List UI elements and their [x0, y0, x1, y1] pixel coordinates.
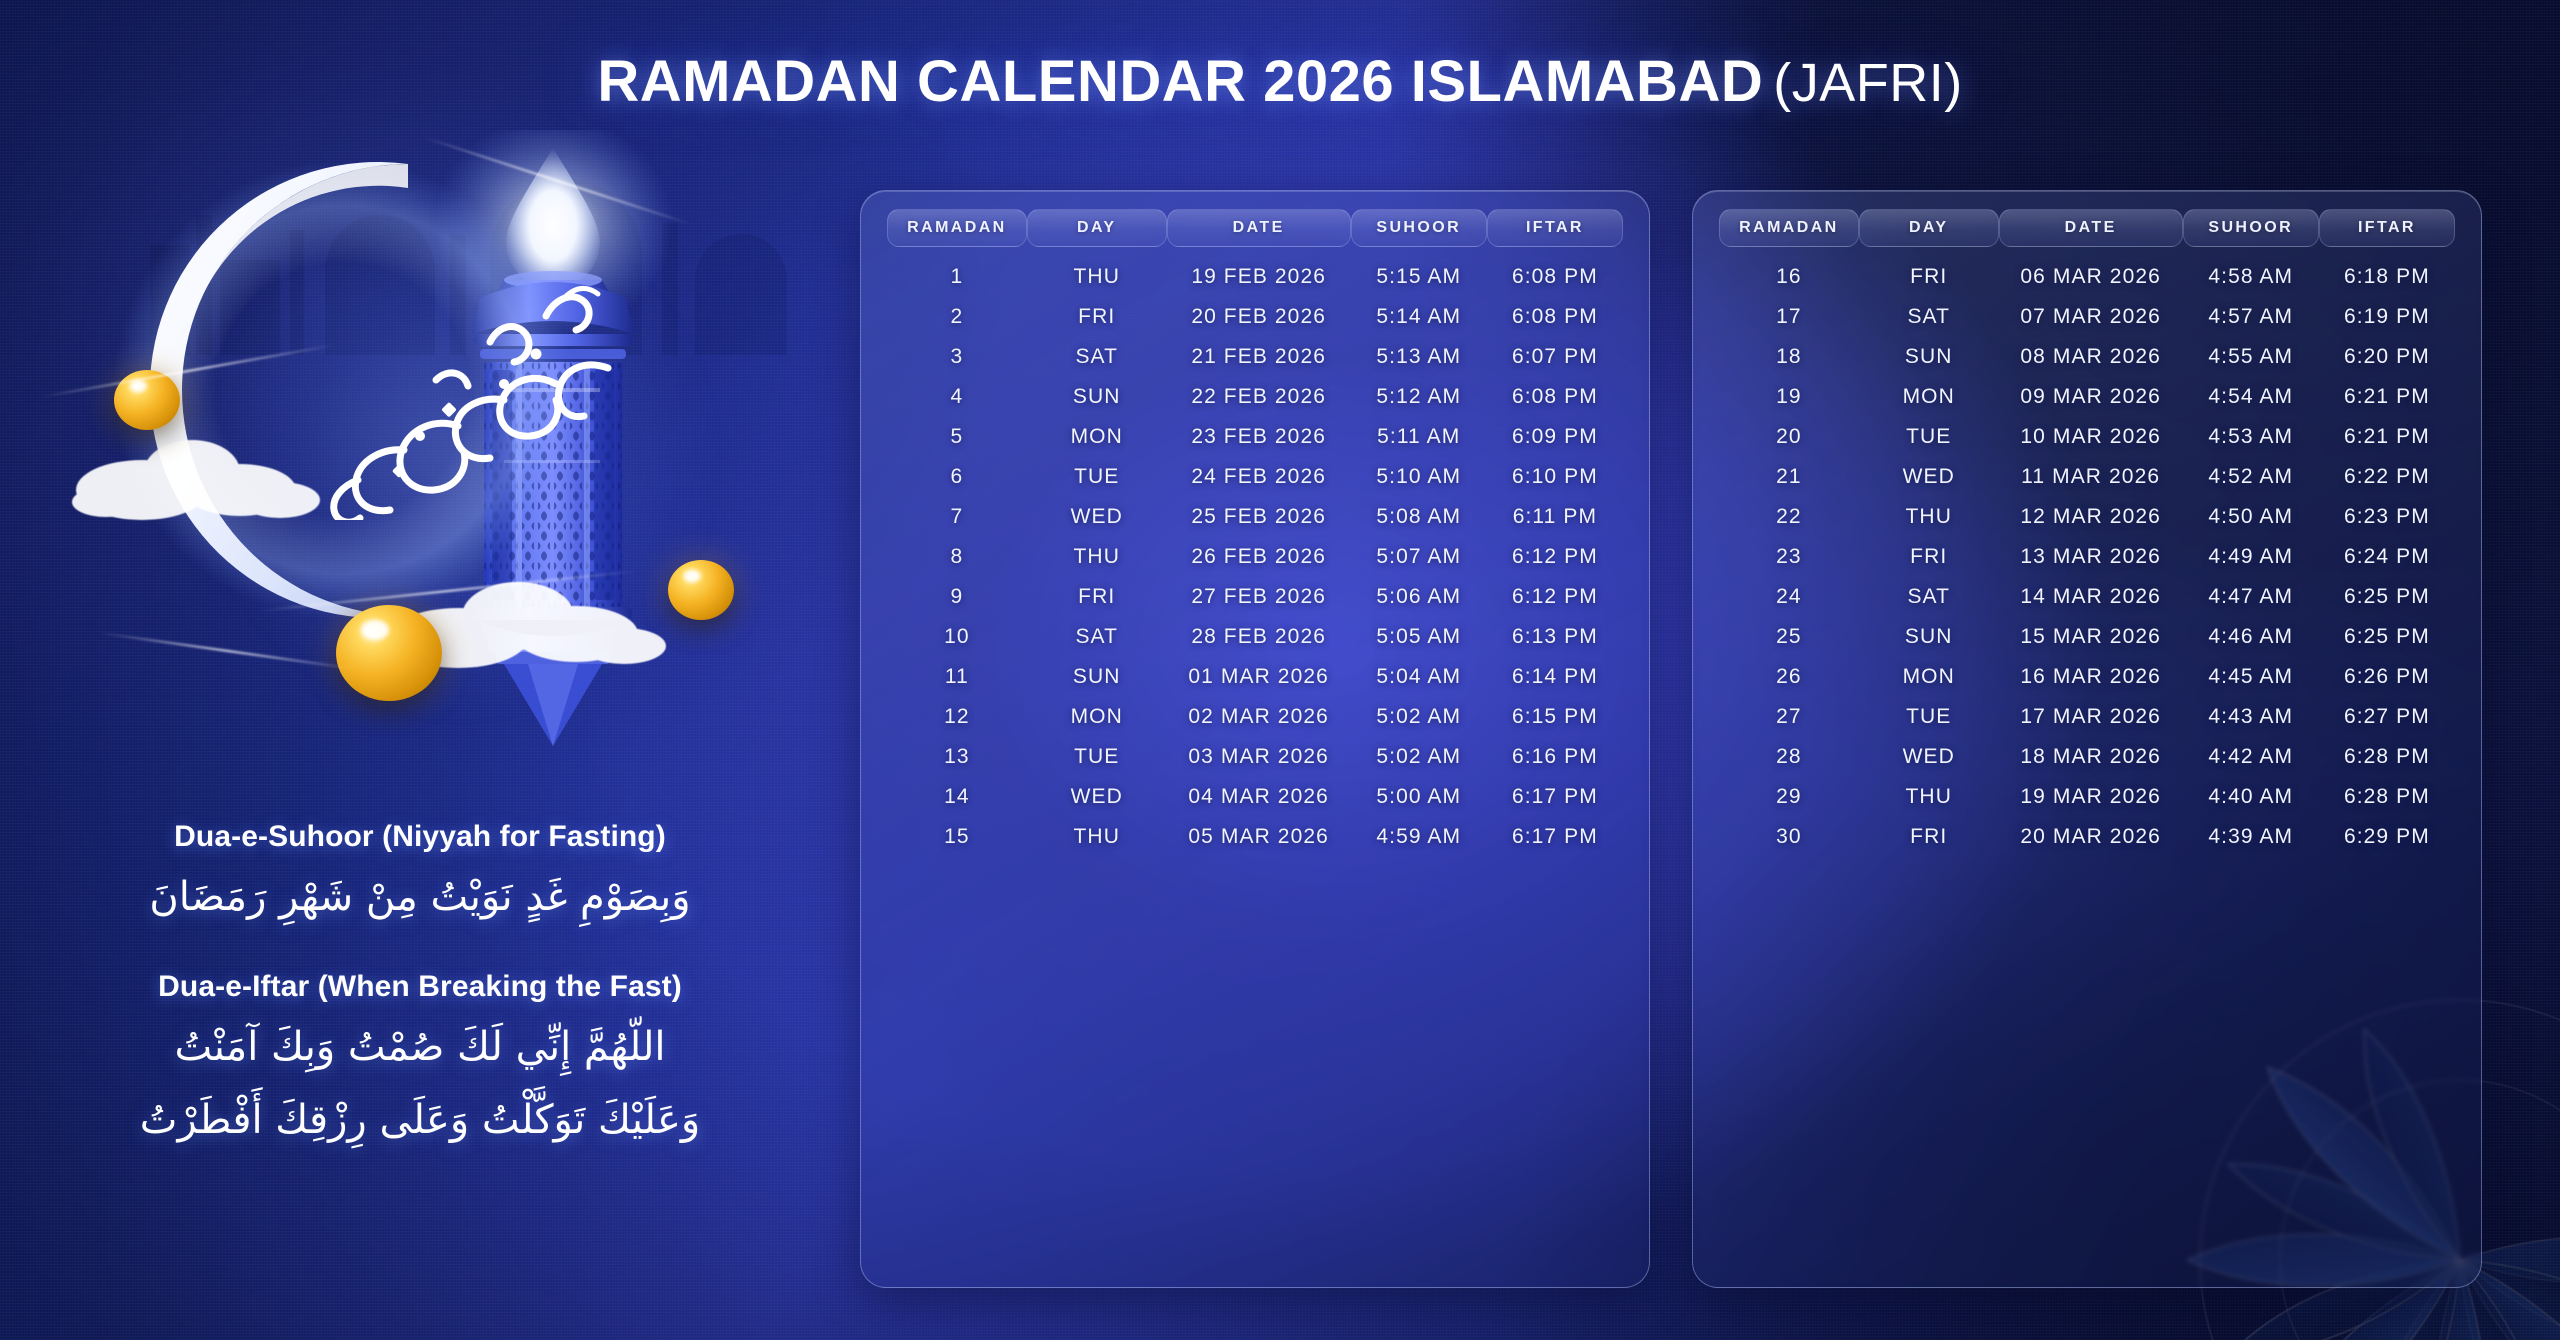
- cell-iftar-time: 6:13 PM: [1487, 617, 1623, 657]
- cell-iftar-time: 6:16 PM: [1487, 737, 1623, 777]
- table-row: 22THU12 MAR 20264:50 AM6:23 PM: [1719, 497, 2455, 537]
- cell-ramadan-day-number: 4: [887, 377, 1027, 417]
- cell-ramadan-day-number: 18: [1719, 337, 1859, 377]
- cell-gregorian-date: 12 MAR 2026: [1999, 497, 2183, 537]
- cell-gregorian-date: 27 FEB 2026: [1167, 577, 1351, 617]
- cell-ramadan-day-number: 12: [887, 697, 1027, 737]
- cell-gregorian-date: 19 FEB 2026: [1167, 257, 1351, 297]
- table-row: 15THU05 MAR 20264:59 AM6:17 PM: [887, 817, 1623, 857]
- cell-weekday: TUE: [1027, 457, 1167, 497]
- cell-ramadan-day-number: 28: [1719, 737, 1859, 777]
- cell-iftar-time: 6:17 PM: [1487, 817, 1623, 857]
- cell-weekday: SAT: [1027, 337, 1167, 377]
- table-header-row: RAMADAN DAY DATE SUHOOR IFTAR: [1719, 209, 2455, 257]
- cell-weekday: SUN: [1027, 377, 1167, 417]
- column-header-iftar: IFTAR: [1487, 209, 1623, 257]
- ramadan-illustration: [78, 120, 778, 760]
- cell-gregorian-date: 09 MAR 2026: [1999, 377, 2183, 417]
- table-row: 29THU19 MAR 20264:40 AM6:28 PM: [1719, 777, 2455, 817]
- cell-gregorian-date: 18 MAR 2026: [1999, 737, 2183, 777]
- dua-iftar-arabic-line-1: اللّهُمَّ إِنِّي لَكَ صُمْتُ وَبِكَ آمَن…: [0, 1018, 840, 1076]
- table-row: 9FRI27 FEB 20265:06 AM6:12 PM: [887, 577, 1623, 617]
- cell-suhoor-time: 5:13 AM: [1351, 337, 1487, 377]
- cell-gregorian-date: 21 FEB 2026: [1167, 337, 1351, 377]
- dua-iftar-block: Dua-e-Iftar (When Breaking the Fast) الل…: [0, 970, 840, 1149]
- cell-weekday: THU: [1859, 497, 1999, 537]
- dua-iftar-arabic-line-2: وَعَلَيْكَ تَوَكَّلْتُ وَعَلَى رِزْقِكَ …: [0, 1091, 840, 1149]
- table-row: 30FRI20 MAR 20264:39 AM6:29 PM: [1719, 817, 2455, 857]
- cell-gregorian-date: 02 MAR 2026: [1167, 697, 1351, 737]
- cell-suhoor-time: 5:15 AM: [1351, 257, 1487, 297]
- cell-iftar-time: 6:08 PM: [1487, 297, 1623, 337]
- cell-iftar-time: 6:27 PM: [2319, 697, 2455, 737]
- cell-ramadan-day-number: 22: [1719, 497, 1859, 537]
- cell-gregorian-date: 04 MAR 2026: [1167, 777, 1351, 817]
- table-row: 8THU26 FEB 20265:07 AM6:12 PM: [887, 537, 1623, 577]
- cell-iftar-time: 6:18 PM: [2319, 257, 2455, 297]
- page-title: RAMADAN CALENDAR 2026 ISLAMABAD(JAFRI): [0, 48, 2560, 115]
- calendar-card-first-half: RAMADAN DAY DATE SUHOOR IFTAR 1THU19 FEB…: [860, 190, 1650, 1288]
- table-row: 23FRI13 MAR 20264:49 AM6:24 PM: [1719, 537, 2455, 577]
- table-row: 13TUE03 MAR 20265:02 AM6:16 PM: [887, 737, 1623, 777]
- cell-suhoor-time: 4:49 AM: [2183, 537, 2319, 577]
- cell-gregorian-date: 17 MAR 2026: [1999, 697, 2183, 737]
- cell-weekday: TUE: [1859, 697, 1999, 737]
- cell-weekday: WED: [1027, 777, 1167, 817]
- table-row: 27TUE17 MAR 20264:43 AM6:27 PM: [1719, 697, 2455, 737]
- table-row: 10SAT28 FEB 20265:05 AM6:13 PM: [887, 617, 1623, 657]
- cell-weekday: THU: [1027, 537, 1167, 577]
- table-row: 14WED04 MAR 20265:00 AM6:17 PM: [887, 777, 1623, 817]
- cell-weekday: FRI: [1027, 577, 1167, 617]
- cell-ramadan-day-number: 13: [887, 737, 1027, 777]
- cell-weekday: FRI: [1859, 257, 1999, 297]
- cell-iftar-time: 6:28 PM: [2319, 777, 2455, 817]
- cell-ramadan-day-number: 29: [1719, 777, 1859, 817]
- column-header-date: DATE: [1999, 209, 2183, 257]
- cell-suhoor-time: 5:14 AM: [1351, 297, 1487, 337]
- cell-suhoor-time: 4:53 AM: [2183, 417, 2319, 457]
- cell-suhoor-time: 4:50 AM: [2183, 497, 2319, 537]
- cell-suhoor-time: 5:04 AM: [1351, 657, 1487, 697]
- cell-iftar-time: 6:21 PM: [2319, 417, 2455, 457]
- table-row: 19MON09 MAR 20264:54 AM6:21 PM: [1719, 377, 2455, 417]
- cell-iftar-time: 6:23 PM: [2319, 497, 2455, 537]
- table-body: 1THU19 FEB 20265:15 AM6:08 PM2FRI20 FEB …: [887, 257, 1623, 857]
- cell-ramadan-day-number: 5: [887, 417, 1027, 457]
- cell-ramadan-day-number: 19: [1719, 377, 1859, 417]
- cell-suhoor-time: 5:02 AM: [1351, 697, 1487, 737]
- column-header-ramadan: RAMADAN: [1719, 209, 1859, 257]
- cell-suhoor-time: 4:39 AM: [2183, 817, 2319, 857]
- cell-gregorian-date: 14 MAR 2026: [1999, 577, 2183, 617]
- dua-suhoor-block: Dua-e-Suhoor (Niyyah for Fasting) وَبِصَ…: [0, 820, 840, 926]
- cell-suhoor-time: 5:12 AM: [1351, 377, 1487, 417]
- cell-iftar-time: 6:12 PM: [1487, 577, 1623, 617]
- cell-weekday: WED: [1027, 497, 1167, 537]
- cell-weekday: WED: [1859, 737, 1999, 777]
- table-row: 18SUN08 MAR 20264:55 AM6:20 PM: [1719, 337, 2455, 377]
- table-row: 11SUN01 MAR 20265:04 AM6:14 PM: [887, 657, 1623, 697]
- table-row: 12MON02 MAR 20265:02 AM6:15 PM: [887, 697, 1623, 737]
- cell-weekday: MON: [1027, 697, 1167, 737]
- cell-gregorian-date: 05 MAR 2026: [1167, 817, 1351, 857]
- cell-weekday: SAT: [1859, 577, 1999, 617]
- cell-gregorian-date: 08 MAR 2026: [1999, 337, 2183, 377]
- cell-gregorian-date: 11 MAR 2026: [1999, 457, 2183, 497]
- cell-gregorian-date: 20 MAR 2026: [1999, 817, 2183, 857]
- cell-suhoor-time: 4:47 AM: [2183, 577, 2319, 617]
- column-header-ramadan: RAMADAN: [887, 209, 1027, 257]
- cell-suhoor-time: 5:08 AM: [1351, 497, 1487, 537]
- cell-iftar-time: 6:26 PM: [2319, 657, 2455, 697]
- cell-gregorian-date: 22 FEB 2026: [1167, 377, 1351, 417]
- cell-iftar-time: 6:24 PM: [2319, 537, 2455, 577]
- cell-ramadan-day-number: 7: [887, 497, 1027, 537]
- table-row: 28WED18 MAR 20264:42 AM6:28 PM: [1719, 737, 2455, 777]
- page-title-sub: (JAFRI): [1773, 53, 1962, 113]
- cell-ramadan-day-number: 2: [887, 297, 1027, 337]
- table-row: 20TUE10 MAR 20264:53 AM6:21 PM: [1719, 417, 2455, 457]
- cell-gregorian-date: 10 MAR 2026: [1999, 417, 2183, 457]
- dua-suhoor-arabic: وَبِصَوْمِ غَدٍ نَوَيْتُ مِنْ شَهْرِ رَم…: [0, 868, 840, 926]
- cell-gregorian-date: 24 FEB 2026: [1167, 457, 1351, 497]
- cell-weekday: SUN: [1859, 617, 1999, 657]
- cell-iftar-time: 6:12 PM: [1487, 537, 1623, 577]
- table-row: 5MON23 FEB 20265:11 AM6:09 PM: [887, 417, 1623, 457]
- cell-gregorian-date: 25 FEB 2026: [1167, 497, 1351, 537]
- cell-weekday: THU: [1859, 777, 1999, 817]
- table-row: 4SUN22 FEB 20265:12 AM6:08 PM: [887, 377, 1623, 417]
- cloud-icon: [72, 420, 332, 530]
- cell-weekday: FRI: [1027, 297, 1167, 337]
- cell-suhoor-time: 4:57 AM: [2183, 297, 2319, 337]
- cell-iftar-time: 6:29 PM: [2319, 817, 2455, 857]
- table-row: 17SAT07 MAR 20264:57 AM6:19 PM: [1719, 297, 2455, 337]
- cell-suhoor-time: 4:46 AM: [2183, 617, 2319, 657]
- cell-gregorian-date: 07 MAR 2026: [1999, 297, 2183, 337]
- column-header-suhoor: SUHOOR: [2183, 209, 2319, 257]
- cell-ramadan-day-number: 15: [887, 817, 1027, 857]
- cell-suhoor-time: 4:58 AM: [2183, 257, 2319, 297]
- cell-ramadan-day-number: 26: [1719, 657, 1859, 697]
- table-row: 7WED25 FEB 20265:08 AM6:11 PM: [887, 497, 1623, 537]
- cell-suhoor-time: 4:59 AM: [1351, 817, 1487, 857]
- cell-weekday: MON: [1027, 417, 1167, 457]
- cell-ramadan-day-number: 3: [887, 337, 1027, 377]
- column-header-suhoor: SUHOOR: [1351, 209, 1487, 257]
- cell-ramadan-day-number: 21: [1719, 457, 1859, 497]
- cell-weekday: THU: [1027, 817, 1167, 857]
- cell-iftar-time: 6:21 PM: [2319, 377, 2455, 417]
- cell-suhoor-time: 5:07 AM: [1351, 537, 1487, 577]
- table-row: 1THU19 FEB 20265:15 AM6:08 PM: [887, 257, 1623, 297]
- cell-suhoor-time: 4:40 AM: [2183, 777, 2319, 817]
- column-header-iftar: IFTAR: [2319, 209, 2455, 257]
- cell-iftar-time: 6:14 PM: [1487, 657, 1623, 697]
- cell-gregorian-date: 01 MAR 2026: [1167, 657, 1351, 697]
- cell-suhoor-time: 5:02 AM: [1351, 737, 1487, 777]
- table-row: 3SAT21 FEB 20265:13 AM6:07 PM: [887, 337, 1623, 377]
- cell-ramadan-day-number: 11: [887, 657, 1027, 697]
- cell-ramadan-day-number: 9: [887, 577, 1027, 617]
- cell-suhoor-time: 4:52 AM: [2183, 457, 2319, 497]
- cell-iftar-time: 6:17 PM: [1487, 777, 1623, 817]
- table-header-row: RAMADAN DAY DATE SUHOOR IFTAR: [887, 209, 1623, 257]
- table-row: 16FRI06 MAR 20264:58 AM6:18 PM: [1719, 257, 2455, 297]
- cell-weekday: THU: [1027, 257, 1167, 297]
- cell-iftar-time: 6:15 PM: [1487, 697, 1623, 737]
- page-title-main: RAMADAN CALENDAR 2026 ISLAMABAD: [597, 49, 1763, 114]
- cell-weekday: FRI: [1859, 537, 1999, 577]
- cell-weekday: FRI: [1859, 817, 1999, 857]
- cell-iftar-time: 6:07 PM: [1487, 337, 1623, 377]
- cell-weekday: SAT: [1859, 297, 1999, 337]
- calendar-table-first-half: RAMADAN DAY DATE SUHOOR IFTAR 1THU19 FEB…: [887, 209, 1623, 857]
- cell-ramadan-day-number: 27: [1719, 697, 1859, 737]
- cell-gregorian-date: 03 MAR 2026: [1167, 737, 1351, 777]
- ramadan-kareem-calligraphy-icon: [298, 250, 628, 520]
- cell-weekday: TUE: [1859, 417, 1999, 457]
- cell-ramadan-day-number: 14: [887, 777, 1027, 817]
- cell-iftar-time: 6:19 PM: [2319, 297, 2455, 337]
- cell-iftar-time: 6:28 PM: [2319, 737, 2455, 777]
- cell-iftar-time: 6:25 PM: [2319, 577, 2455, 617]
- cell-iftar-time: 6:09 PM: [1487, 417, 1623, 457]
- cell-iftar-time: 6:22 PM: [2319, 457, 2455, 497]
- cell-suhoor-time: 4:55 AM: [2183, 337, 2319, 377]
- cell-gregorian-date: 13 MAR 2026: [1999, 537, 2183, 577]
- cell-gregorian-date: 19 MAR 2026: [1999, 777, 2183, 817]
- column-header-day: DAY: [1027, 209, 1167, 257]
- cell-gregorian-date: 23 FEB 2026: [1167, 417, 1351, 457]
- cell-suhoor-time: 5:00 AM: [1351, 777, 1487, 817]
- dua-suhoor-title: Dua-e-Suhoor (Niyyah for Fasting): [0, 820, 840, 854]
- table-header: RAMADAN DAY DATE SUHOOR IFTAR: [1719, 209, 2455, 257]
- cell-gregorian-date: 28 FEB 2026: [1167, 617, 1351, 657]
- cell-ramadan-day-number: 10: [887, 617, 1027, 657]
- cell-gregorian-date: 06 MAR 2026: [1999, 257, 2183, 297]
- cell-iftar-time: 6:08 PM: [1487, 257, 1623, 297]
- cell-iftar-time: 6:08 PM: [1487, 377, 1623, 417]
- cell-weekday: SUN: [1027, 657, 1167, 697]
- cell-suhoor-time: 4:54 AM: [2183, 377, 2319, 417]
- cell-suhoor-time: 5:10 AM: [1351, 457, 1487, 497]
- cell-gregorian-date: 20 FEB 2026: [1167, 297, 1351, 337]
- table-row: 21WED11 MAR 20264:52 AM6:22 PM: [1719, 457, 2455, 497]
- cell-iftar-time: 6:25 PM: [2319, 617, 2455, 657]
- cell-ramadan-day-number: 1: [887, 257, 1027, 297]
- cell-gregorian-date: 26 FEB 2026: [1167, 537, 1351, 577]
- cell-ramadan-day-number: 6: [887, 457, 1027, 497]
- column-header-date: DATE: [1167, 209, 1351, 257]
- cell-iftar-time: 6:20 PM: [2319, 337, 2455, 377]
- dua-iftar-title: Dua-e-Iftar (When Breaking the Fast): [0, 970, 840, 1004]
- cell-suhoor-time: 5:06 AM: [1351, 577, 1487, 617]
- table-row: 24SAT14 MAR 20264:47 AM6:25 PM: [1719, 577, 2455, 617]
- table-header: RAMADAN DAY DATE SUHOOR IFTAR: [887, 209, 1623, 257]
- column-header-day: DAY: [1859, 209, 1999, 257]
- cell-ramadan-day-number: 20: [1719, 417, 1859, 457]
- gold-sphere-decoration: [336, 605, 442, 701]
- table-row: 2FRI20 FEB 20265:14 AM6:08 PM: [887, 297, 1623, 337]
- cell-weekday: TUE: [1027, 737, 1167, 777]
- calendar-card-second-half: RAMADAN DAY DATE SUHOOR IFTAR 16FRI06 MA…: [1692, 190, 2482, 1288]
- cell-gregorian-date: 16 MAR 2026: [1999, 657, 2183, 697]
- cell-suhoor-time: 4:42 AM: [2183, 737, 2319, 777]
- cell-iftar-time: 6:10 PM: [1487, 457, 1623, 497]
- cell-weekday: SUN: [1859, 337, 1999, 377]
- cell-weekday: SAT: [1027, 617, 1167, 657]
- cell-ramadan-day-number: 25: [1719, 617, 1859, 657]
- table-row: 25SUN15 MAR 20264:46 AM6:25 PM: [1719, 617, 2455, 657]
- cell-weekday: WED: [1859, 457, 1999, 497]
- cell-weekday: MON: [1859, 377, 1999, 417]
- cell-gregorian-date: 15 MAR 2026: [1999, 617, 2183, 657]
- table-row: 6TUE24 FEB 20265:10 AM6:10 PM: [887, 457, 1623, 497]
- cell-iftar-time: 6:11 PM: [1487, 497, 1623, 537]
- table-row: 26MON16 MAR 20264:45 AM6:26 PM: [1719, 657, 2455, 697]
- dua-section: Dua-e-Suhoor (Niyyah for Fasting) وَبِصَ…: [0, 820, 840, 1149]
- calendar-table-second-half: RAMADAN DAY DATE SUHOOR IFTAR 16FRI06 MA…: [1719, 209, 2455, 857]
- cell-suhoor-time: 4:45 AM: [2183, 657, 2319, 697]
- table-body: 16FRI06 MAR 20264:58 AM6:18 PM17SAT07 MA…: [1719, 257, 2455, 857]
- cell-ramadan-day-number: 16: [1719, 257, 1859, 297]
- cell-suhoor-time: 5:05 AM: [1351, 617, 1487, 657]
- cell-weekday: MON: [1859, 657, 1999, 697]
- cell-ramadan-day-number: 8: [887, 537, 1027, 577]
- cell-ramadan-day-number: 30: [1719, 817, 1859, 857]
- cell-ramadan-day-number: 23: [1719, 537, 1859, 577]
- cell-ramadan-day-number: 24: [1719, 577, 1859, 617]
- gold-sphere-decoration: [668, 560, 734, 620]
- cell-ramadan-day-number: 17: [1719, 297, 1859, 337]
- cell-suhoor-time: 4:43 AM: [2183, 697, 2319, 737]
- cell-suhoor-time: 5:11 AM: [1351, 417, 1487, 457]
